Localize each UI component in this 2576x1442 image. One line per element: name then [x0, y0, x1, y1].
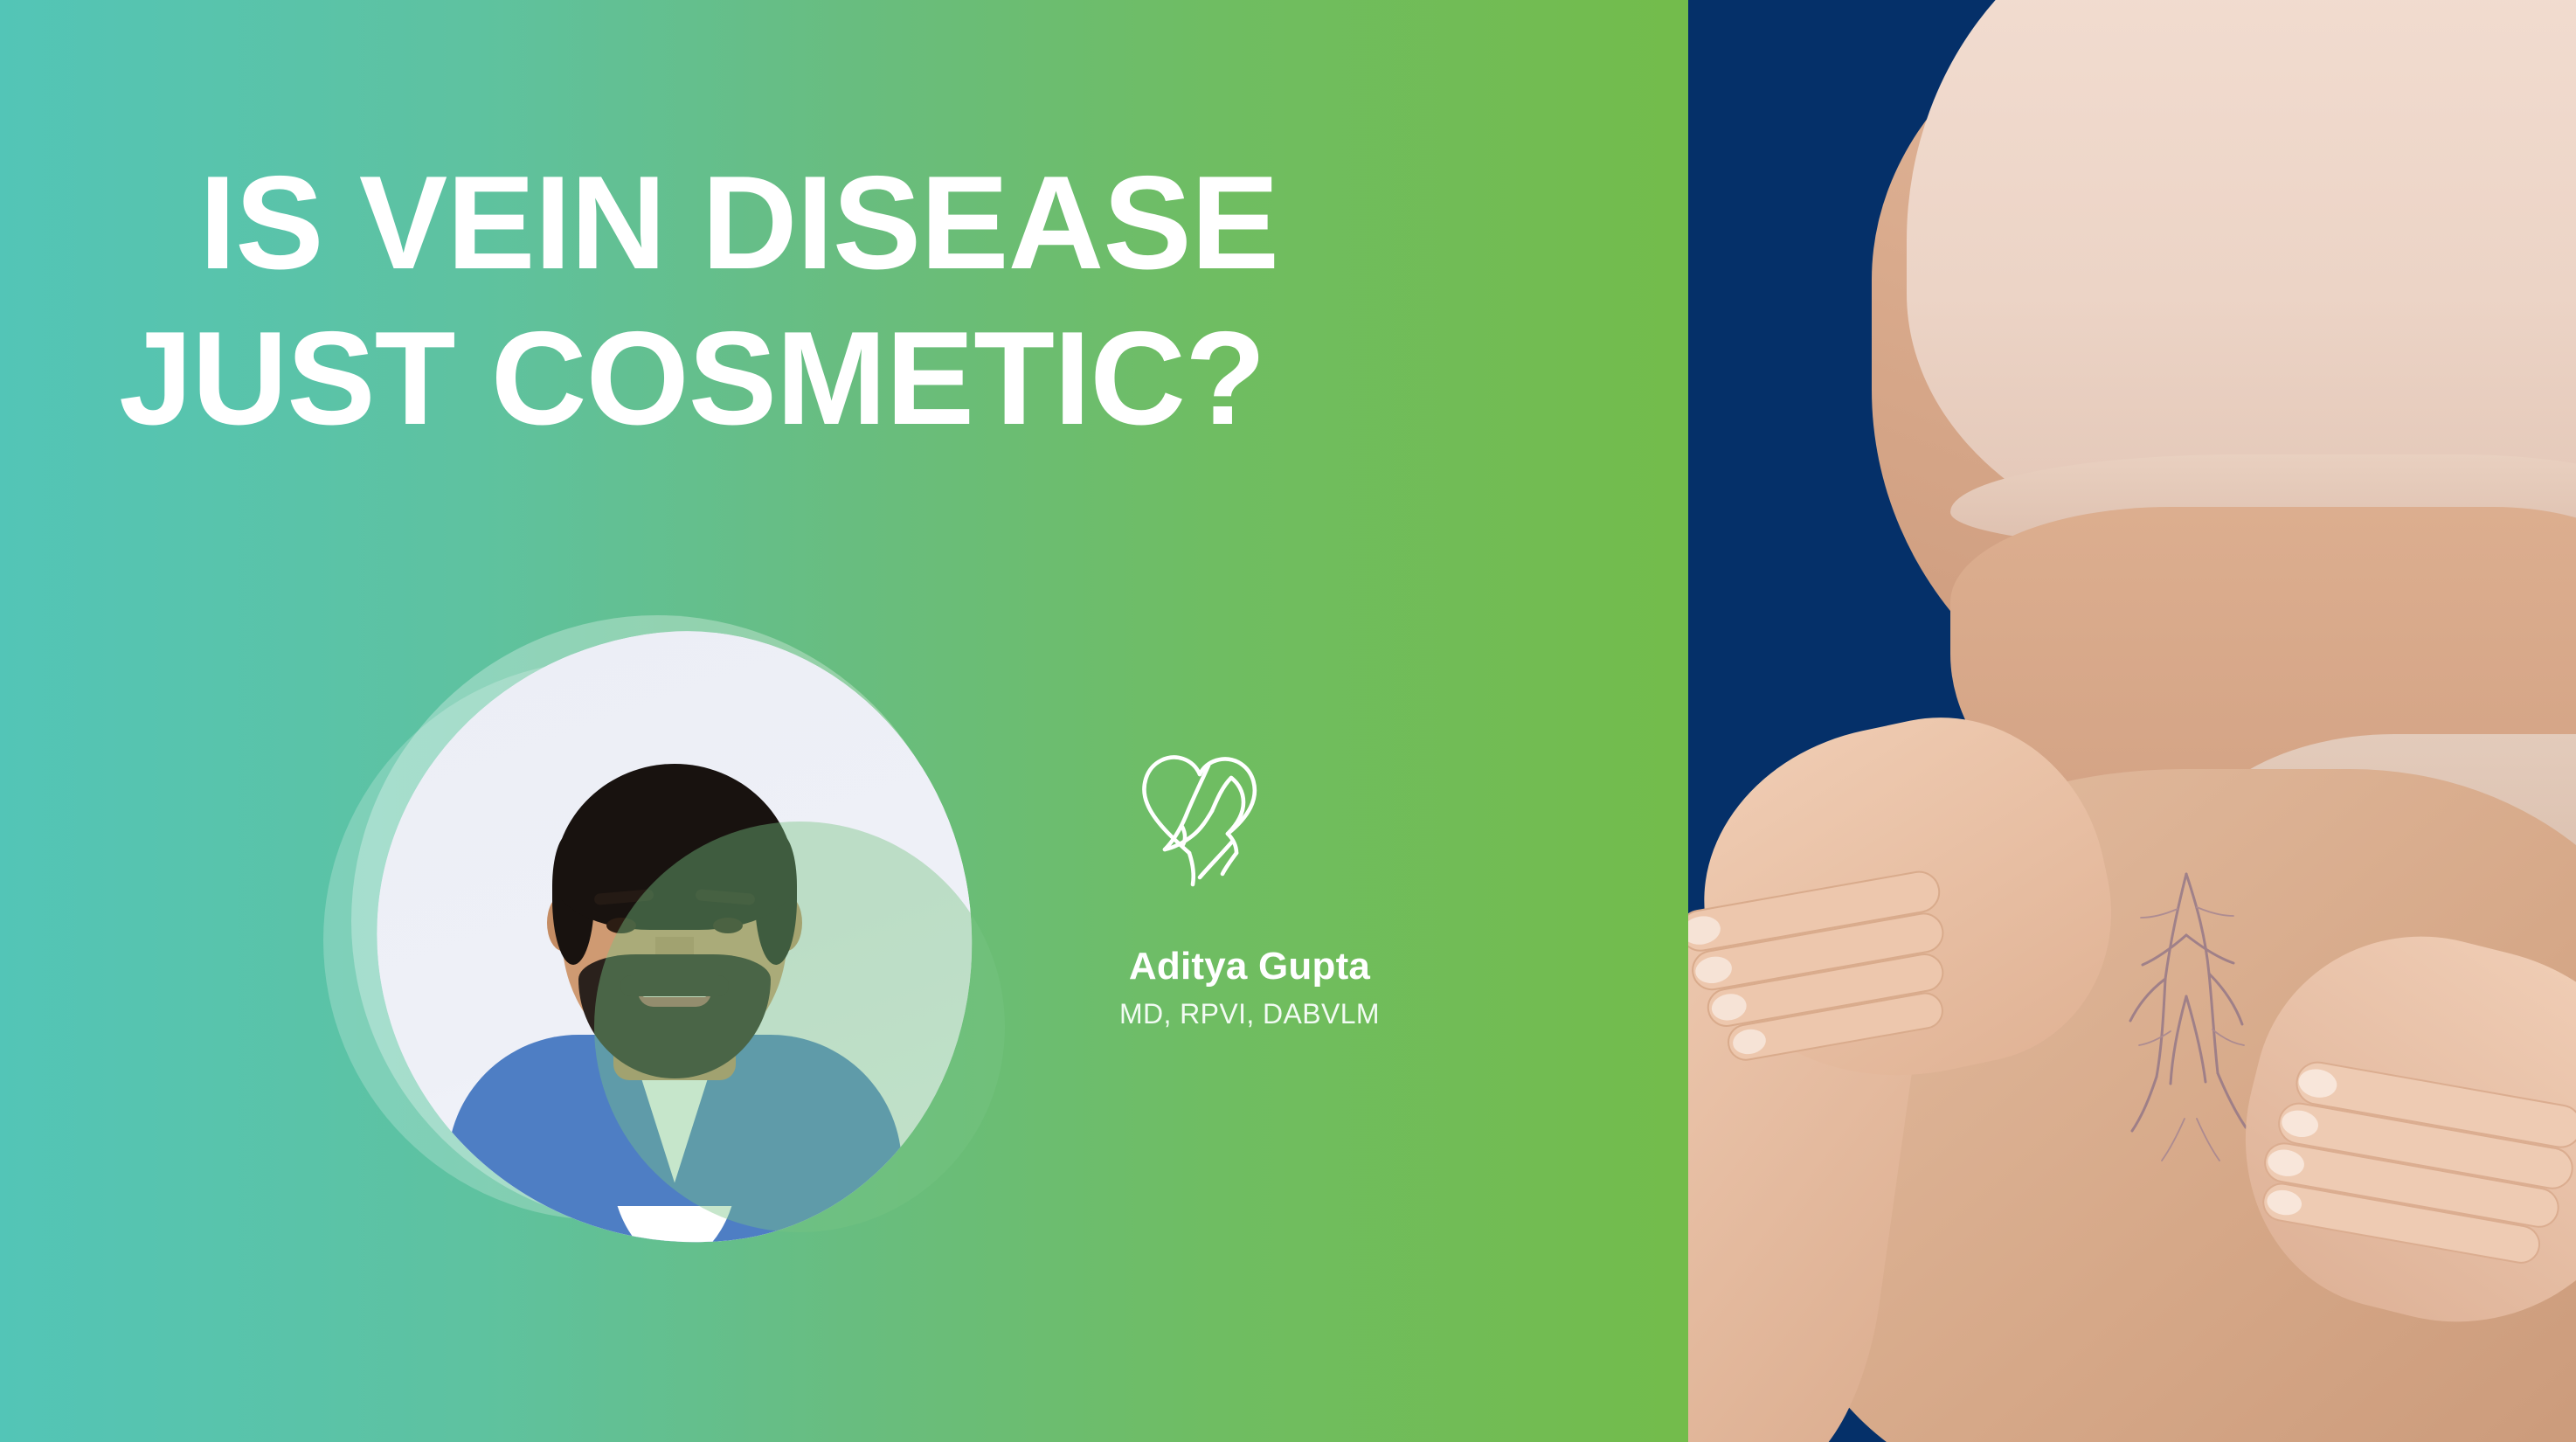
- moustache: [620, 975, 729, 996]
- doctor-name-block: Aditya Gupta MD, RPVI, DABVLM: [1031, 944, 1468, 1031]
- eye-right: [713, 918, 743, 933]
- banner-canvas: IS VEIN DISEASE JUST COSMETIC?: [0, 0, 2576, 1442]
- avatar: [377, 633, 972, 1244]
- headline-line-1: IS VEIN DISEASE: [0, 171, 1688, 274]
- doctor-portrait: [332, 603, 996, 1285]
- doctor-credentials: MD, RPVI, DABVLM: [1031, 996, 1468, 1031]
- page-title: IS VEIN DISEASE JUST COSMETIC?: [0, 171, 1688, 430]
- portrait-blob-mask: [347, 603, 1001, 1273]
- doctor-name: Aditya Gupta: [1031, 944, 1468, 989]
- photo-panel: [1688, 0, 2576, 1442]
- headline-line-2: JUST COSMETIC?: [0, 327, 1688, 430]
- hair: [554, 764, 795, 930]
- portrait-blob-background: [377, 633, 972, 1244]
- heart-legs-logo-icon: [1119, 745, 1277, 898]
- gradient-panel: IS VEIN DISEASE JUST COSMETIC?: [0, 0, 1688, 1442]
- eye-left: [606, 918, 636, 933]
